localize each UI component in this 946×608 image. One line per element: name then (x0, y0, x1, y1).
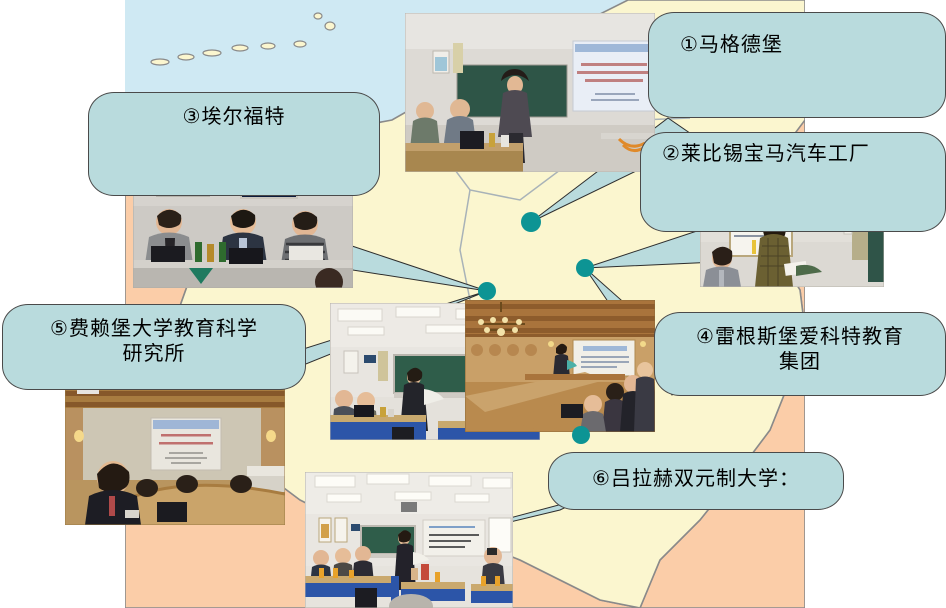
callout-1-body (648, 12, 946, 118)
marker-1[interactable] (521, 212, 541, 232)
slide-canvas: ①马格德堡 ②莱比锡宝马汽车工厂 ③埃尔福特 ④雷根斯堡爱科特教育 集团 ⑤费赖… (0, 0, 946, 608)
callout-5[interactable]: ⑤费赖堡大学教育科学 研究所 (2, 304, 306, 390)
marker-2[interactable] (576, 259, 594, 277)
photo-loerrach (305, 472, 513, 608)
callout-1-label: ①马格德堡 (648, 32, 946, 57)
photo-regensburg (465, 300, 655, 432)
marker-3[interactable] (478, 282, 496, 300)
callout-2[interactable]: ②莱比锡宝马汽车工厂 (640, 132, 946, 232)
callout-6-label: ⑥吕拉赫双元制大学： (548, 466, 844, 491)
callout-5-label: ⑤费赖堡大学教育科学 研究所 (2, 316, 306, 366)
callout-4[interactable]: ④雷根斯堡爱科特教育 集团 (654, 312, 946, 396)
callout-3[interactable]: ③埃尔福特 (88, 92, 380, 196)
callout-1[interactable]: ①马格德堡 (648, 12, 946, 118)
callout-3-label: ③埃尔福特 (88, 104, 380, 129)
callout-2-label: ②莱比锡宝马汽车工厂 (640, 141, 946, 166)
callout-6[interactable]: ⑥吕拉赫双元制大学： (548, 452, 844, 510)
photo-freiburg (65, 378, 285, 525)
photo-magdeburg (405, 13, 655, 172)
marker-6[interactable] (572, 426, 590, 444)
callout-4-label: ④雷根斯堡爱科特教育 集团 (654, 324, 946, 374)
